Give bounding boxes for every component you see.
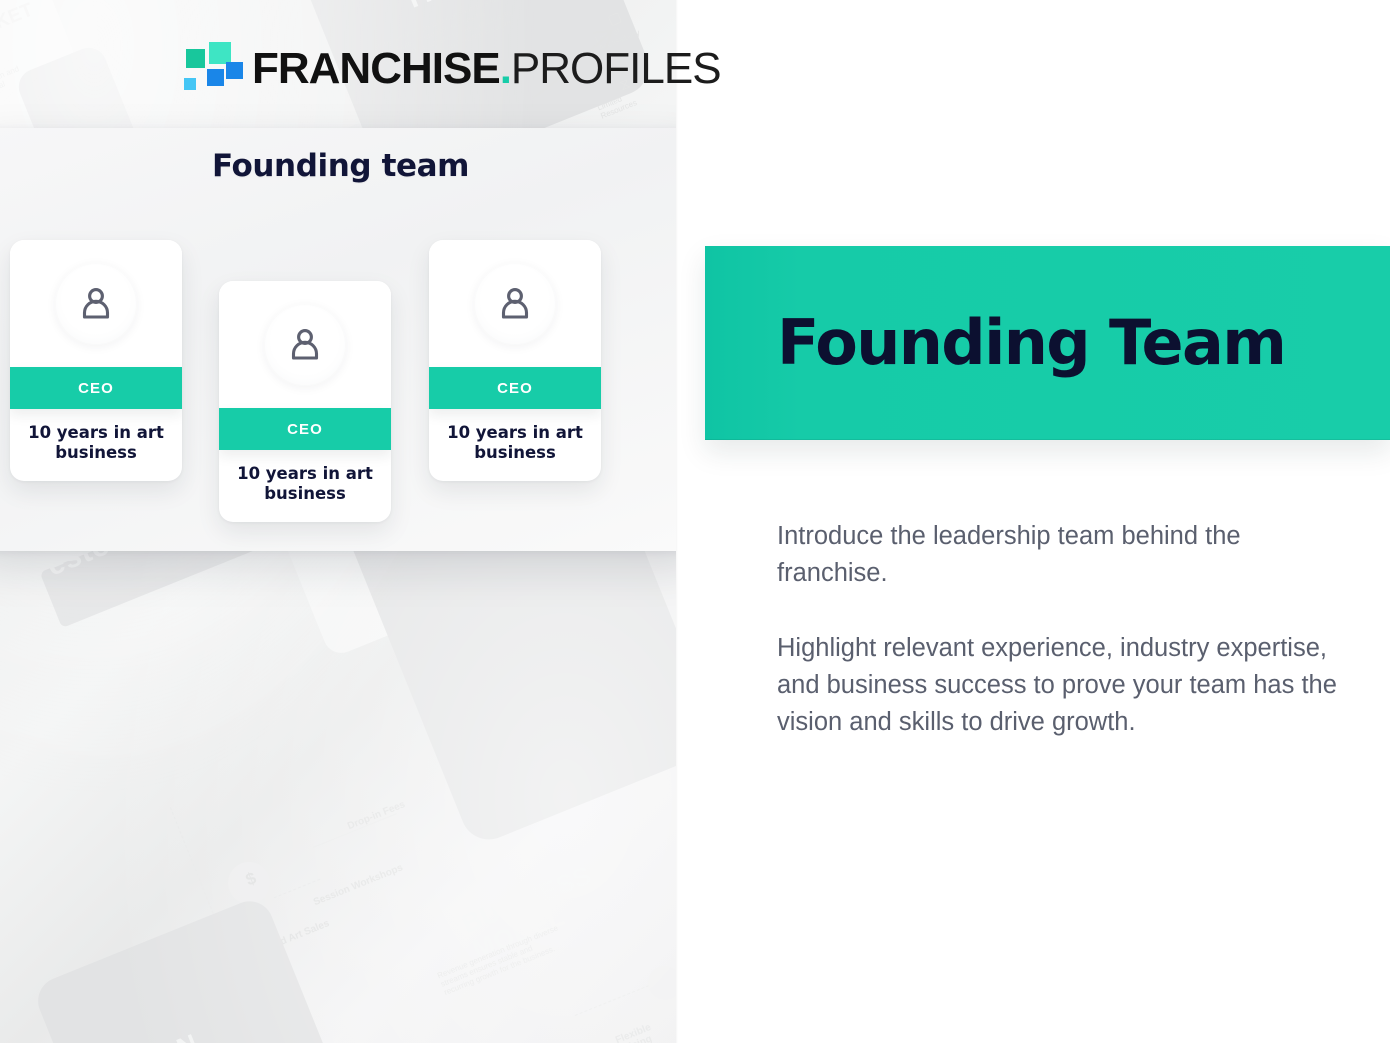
team-member-card[interactable]: CEO 10 years in art business: [429, 240, 601, 481]
team-member-card[interactable]: CEO 10 years in art business: [10, 240, 182, 481]
body-paragraph-2: Highlight relevant experience, industry …: [777, 630, 1345, 741]
body-copy: Introduce the leadership team behind the…: [777, 518, 1345, 741]
brand-logo[interactable]: FRANCHISE.PROFILES: [176, 40, 721, 98]
page-title: Founding Team: [705, 312, 1285, 374]
avatar-circle: [55, 263, 137, 345]
avatar: [429, 240, 601, 367]
role-badge: CEO: [219, 408, 391, 450]
ghost-label-flexible: Flexible Pricing: [614, 1022, 657, 1043]
experience-text: 10 years in art business: [429, 409, 601, 481]
ghost-dash-2: [274, 879, 321, 899]
brand-wordmark: FRANCHISE.PROFILES: [252, 44, 721, 94]
five-squares-logo-icon: [176, 40, 234, 98]
brand-word-light: PROFILES: [511, 44, 721, 93]
preview-title: Founding team: [0, 148, 705, 184]
role-badge: CEO: [429, 367, 601, 409]
role-badge: CEO: [10, 367, 182, 409]
body-paragraph-1: Introduce the leadership team behind the…: [777, 518, 1345, 592]
avatar: [10, 240, 182, 367]
team-card-list: CEO 10 years in art business CEO 10 year…: [0, 240, 705, 540]
person-icon: [284, 324, 326, 366]
avatar-circle: [264, 304, 346, 386]
slide-preview-panel: Founding team CEO 10 years in art busine…: [0, 128, 705, 551]
slide-canvas: KET nces in urban and e substantial $9,8…: [0, 0, 1390, 1043]
brand-word-bold: FRANCHISE: [252, 44, 500, 93]
team-member-card[interactable]: CEO 10 years in art business: [219, 281, 391, 522]
experience-text: 10 years in art business: [219, 450, 391, 522]
ghost-slide-traction: [31, 894, 375, 1043]
ghost-pricing-circle: [643, 961, 676, 1005]
experience-text: 10 years in art business: [10, 409, 182, 481]
ghost-dash-4: [575, 985, 650, 1016]
avatar-circle: [474, 263, 556, 345]
ghost-label-dropin: Drop-in Fees: [346, 799, 407, 832]
person-icon: [75, 283, 117, 325]
title-banner: Founding Team: [705, 246, 1390, 440]
ghost-label-session: Session Workshops: [312, 862, 405, 908]
brand-word-dot: .: [500, 44, 511, 93]
person-icon: [494, 283, 536, 325]
pane-divider: [676, 0, 678, 1043]
avatar: [219, 281, 391, 408]
